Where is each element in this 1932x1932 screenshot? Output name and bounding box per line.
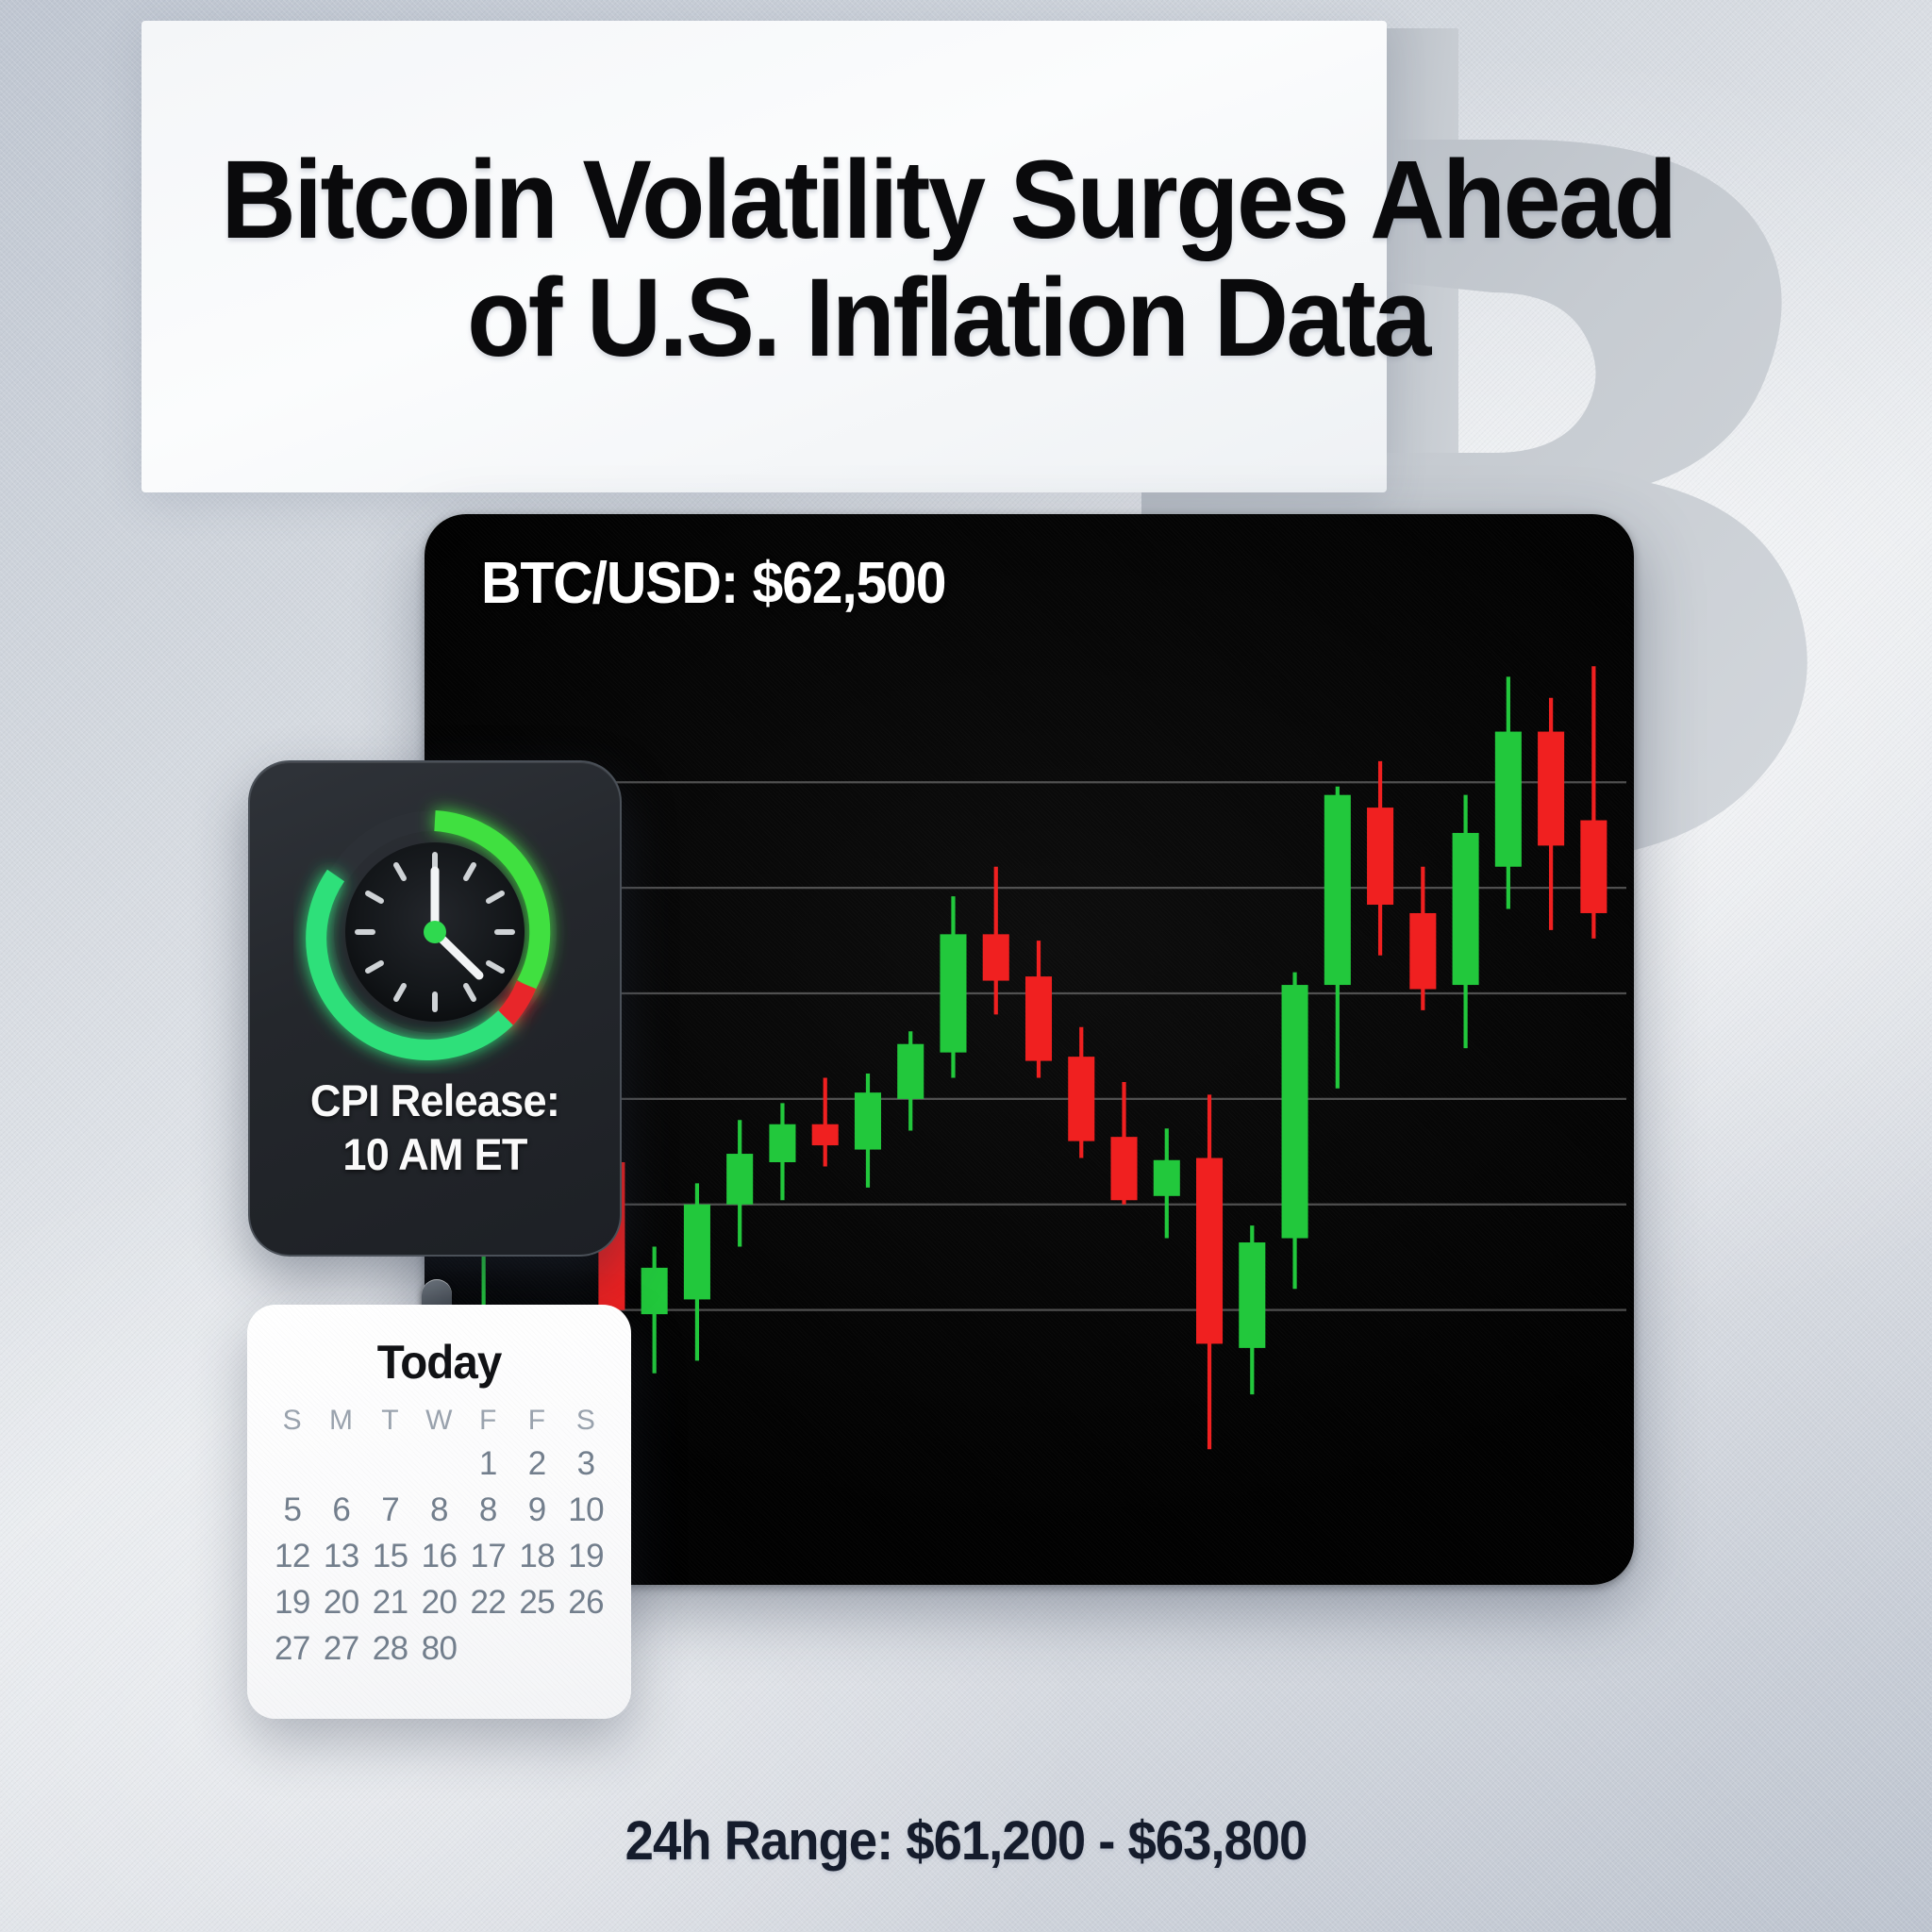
candlestick [1196,1094,1223,1449]
candle-body [1196,1158,1223,1344]
candlestick [1068,1027,1094,1158]
calendar-title: Today [257,1335,622,1390]
candlestick [1154,1128,1180,1238]
calendar-day[interactable]: 8 [415,1491,464,1529]
calendar-day[interactable]: 18 [512,1538,561,1575]
calendar-day[interactable]: 7 [366,1491,415,1529]
calendar-day[interactable]: 21 [366,1584,415,1622]
calendar-day[interactable]: 2 [512,1445,561,1483]
btc-price-label: BTC/USD: $62,500 [481,550,945,617]
candle-body [1110,1137,1137,1200]
candle-body [1239,1242,1265,1348]
cpi-release-widget[interactable]: CPI Release: 10 AM ET [248,760,622,1257]
calendar-day[interactable]: 17 [463,1538,512,1575]
calendar-day[interactable]: 15 [366,1538,415,1575]
calendar-day-empty [415,1445,464,1483]
candle-body [1367,808,1393,905]
candlestick [1239,1225,1265,1394]
candlestick [1538,698,1564,930]
candlestick [726,1120,753,1246]
candle-body [1282,985,1308,1239]
page-title: Bitcoin Volatility Surges Ahead of U.S. … [163,142,1734,377]
candle-body [1580,821,1607,913]
candlestick [1025,941,1052,1077]
calendar-day-empty [463,1630,512,1668]
candle-body [1068,1057,1094,1141]
calendar-day[interactable]: 80 [415,1630,464,1668]
candle-body [855,1092,881,1149]
candle-body [897,1044,924,1099]
cpi-release-text: CPI Release: 10 AM ET [258,1074,612,1182]
calendar-day[interactable]: 3 [561,1445,610,1483]
calendar-day[interactable]: 19 [268,1584,317,1622]
candlestick [1110,1082,1137,1205]
candlestick [1282,973,1308,1290]
calendar-day[interactable]: 16 [415,1538,464,1575]
candle-body [812,1124,839,1145]
cpi-release-line2: 10 AM ET [258,1127,612,1181]
calendar-dow-0: S [268,1405,317,1437]
calendar-day-empty [512,1630,561,1668]
calendar-day[interactable]: 5 [268,1491,317,1529]
candlestick [897,1031,924,1130]
calendar-day[interactable]: 9 [512,1491,561,1529]
calendar-day[interactable]: 27 [268,1630,317,1668]
candlestick [1580,666,1607,939]
candlestick [855,1074,881,1188]
calendar-day-empty [317,1445,366,1483]
calendar-dow-6: S [561,1405,610,1437]
candle-body [1453,833,1479,985]
calendar-day[interactable]: 8 [463,1491,512,1529]
candlestick [983,867,1009,1015]
calendar-day[interactable]: 10 [561,1491,610,1529]
candlestick [1367,761,1393,956]
calendar-dow-4: F [463,1405,512,1437]
calendar-day[interactable]: 22 [463,1584,512,1622]
candle-body [641,1268,668,1314]
calendar-day[interactable]: 19 [561,1538,610,1575]
calendar-day[interactable]: 6 [317,1491,366,1529]
calendar-widget[interactable]: Today SMTWFFS 12356788910121315161718191… [247,1305,631,1719]
calendar-day-empty [366,1445,415,1483]
candlestick [1324,787,1351,1089]
calendar-dow-2: T [366,1405,415,1437]
cpi-release-line1: CPI Release: [258,1074,612,1127]
calendar-day[interactable]: 26 [561,1584,610,1622]
calendar-day[interactable]: 20 [317,1584,366,1622]
calendar-day[interactable]: 25 [512,1584,561,1622]
candle-body [940,934,966,1052]
calendar-dow-1: M [317,1405,366,1437]
clock-gauge-icon [293,791,576,1074]
candle-body [769,1124,795,1162]
candle-body [1409,913,1436,990]
calendar-day-empty [561,1630,610,1668]
candlestick [1495,676,1522,908]
calendar-grid: SMTWFFS 12356788910121315161718191920212… [268,1405,610,1668]
calendar-day[interactable]: 12 [268,1538,317,1575]
calendar-day[interactable]: 20 [415,1584,464,1622]
calendar-day[interactable]: 27 [317,1630,366,1668]
candle-body [1154,1160,1180,1196]
candle-body [1538,732,1564,846]
candlestick [940,896,966,1077]
candle-body [726,1154,753,1205]
calendar-day[interactable]: 28 [366,1630,415,1668]
candlestick [769,1103,795,1200]
candlestick [1453,795,1479,1049]
calendar-dow-5: F [512,1405,561,1437]
candle-body [684,1205,710,1300]
calendar-day-empty [268,1445,317,1483]
candlestick [684,1183,710,1360]
calendar-day[interactable]: 1 [463,1445,512,1483]
poster-canvas: Bitcoin Volatility Surges Ahead of U.S. … [0,0,1932,1932]
candlestick [641,1247,668,1374]
candle-body [1495,732,1522,867]
calendar-day[interactable]: 13 [317,1538,366,1575]
candlestick [812,1078,839,1167]
calendar-dow-3: W [415,1405,464,1437]
candle-body [1324,795,1351,985]
range-caption: 24h Range: $61,200 - $63,800 [58,1809,1874,1873]
candle-body [983,934,1009,980]
candle-body [1025,976,1052,1061]
